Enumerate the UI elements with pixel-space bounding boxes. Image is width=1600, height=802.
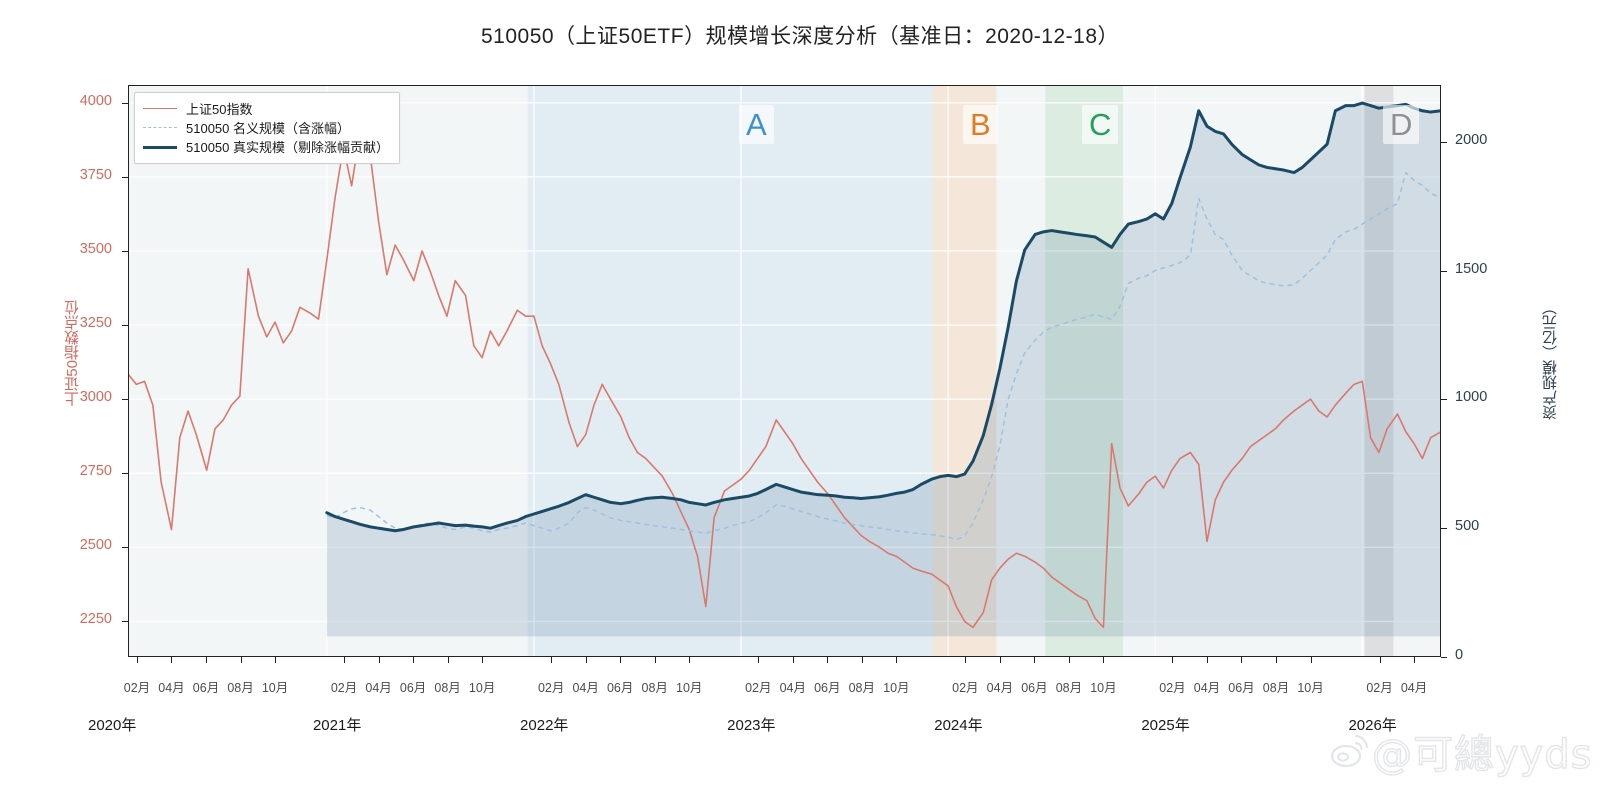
x-axis-tickmark [171,657,172,663]
x-axis-tickmark [827,657,828,663]
x-axis-month-tick: 02月 [1366,677,1392,696]
x-axis-year-label: 2020年 [88,714,136,735]
x-axis-month-tick: 04月 [572,677,598,696]
x-axis-month-tick: 06月 [193,677,219,696]
x-axis-month-tick: 10月 [1297,677,1323,696]
y-axis-right-label: 资产规模（亿元） [1540,300,1560,420]
phase-label-c: C [1082,105,1118,144]
x-axis-year-label: 2021年 [313,714,361,735]
x-axis-tickmark [758,657,759,663]
x-axis-month-tick: 04月 [158,677,184,696]
x-axis-month-tick: 08月 [1263,677,1289,696]
chart-svg [128,85,1441,657]
legend-swatch-icon [143,141,177,153]
x-axis-tickmark [620,657,621,663]
x-axis-month-tick: 08月 [849,677,875,696]
x-axis-tickmark [1380,657,1381,663]
y-axis-left-tickmark [122,399,128,400]
x-axis-month-tick: 06月 [607,677,633,696]
y-axis-left-tick: 3750 [42,167,112,183]
x-axis-tickmark [896,657,897,663]
x-axis-month-tick: 04月 [987,677,1013,696]
x-axis-month-tick: 08月 [642,677,668,696]
x-axis-year-label: 2023年 [727,714,775,735]
x-axis-month-tick: 08月 [434,677,460,696]
y-axis-left-tickmark [122,473,128,474]
x-axis-tickmark [275,657,276,663]
legend-item-real-scale[interactable]: 510050 真实规模（剔除涨幅贡献） [143,137,389,156]
y-axis-left-tickmark [122,325,128,326]
y-axis-right-tickmark [1441,271,1447,272]
phase-label-d: D [1383,105,1419,144]
phase-label-a: A [739,105,774,144]
y-axis-left-tickmark [122,621,128,622]
legend-swatch-icon [143,122,177,134]
y-axis-left-tick: 3500 [42,241,112,257]
x-axis-month-tick: 06月 [400,677,426,696]
x-axis-month-tick: 02月 [124,677,150,696]
x-axis-tickmark [379,657,380,663]
x-axis-tickmark [448,657,449,663]
legend-item-nominal-scale[interactable]: 510050 名义规模（含涨幅） [143,118,389,137]
x-axis-tickmark [551,657,552,663]
x-axis-tickmark [1172,657,1173,663]
x-axis-month-tick: 02月 [952,677,978,696]
x-axis-month-tick: 02月 [745,677,771,696]
x-axis-month-tick: 10月 [883,677,909,696]
x-axis-year-label: 2025年 [1141,714,1189,735]
y-axis-right-tickmark [1441,657,1447,658]
x-axis-month-tick: 06月 [814,677,840,696]
y-axis-left-tick: 3250 [42,315,112,331]
x-axis-year-label: 2026年 [1348,714,1396,735]
legend-label: 上证50指数 [186,99,252,118]
y-axis-left-tickmark [122,177,128,178]
x-axis-tickmark [241,657,242,663]
y-axis-right-tick: 1500 [1455,261,1525,277]
x-axis-month-tick: 10月 [469,677,495,696]
x-axis-tickmark [965,657,966,663]
x-axis-tickmark [689,657,690,663]
x-axis-tickmark [137,657,138,663]
x-axis-tickmark [655,657,656,663]
watermark-text: @可總yyds [1372,722,1593,780]
x-axis-month-tick: 10月 [676,677,702,696]
x-axis-month-tick: 02月 [331,677,357,696]
x-axis-month-tick: 02月 [538,677,564,696]
y-axis-left-tick: 4000 [42,93,112,109]
x-axis-month-tick: 04月 [1401,677,1427,696]
y-axis-right-tick: 0 [1455,647,1525,663]
y-axis-right-tickmark [1441,399,1447,400]
x-axis-tickmark [482,657,483,663]
chart-legend: 上证50指数510050 名义规模（含涨幅）510050 真实规模（剔除涨幅贡献… [134,92,400,164]
phase-label-b: B [963,105,998,144]
x-axis-month-tick: 02月 [1159,677,1185,696]
y-axis-left-tickmark [122,251,128,252]
x-axis-tickmark [1311,657,1312,663]
y-axis-right-tickmark [1441,142,1447,143]
x-axis-year-label: 2024年 [934,714,982,735]
x-axis-month-tick: 08月 [1056,677,1082,696]
x-axis-tickmark [1241,657,1242,663]
x-axis-month-tick: 06月 [1021,677,1047,696]
y-axis-right-tick: 1000 [1455,389,1525,405]
x-axis-tickmark [1069,657,1070,663]
x-axis-month-tick: 06月 [1228,677,1254,696]
x-axis-tickmark [1276,657,1277,663]
x-axis-month-tick: 04月 [365,677,391,696]
x-axis-tickmark [586,657,587,663]
chart-page: 510050（上证50ETF）规模增长深度分析（基准日：2020-12-18） … [0,0,1600,802]
y-axis-right-tick: 2000 [1455,132,1525,148]
y-axis-left-tick: 2250 [42,611,112,627]
x-axis-tickmark [344,657,345,663]
x-axis-month-tick: 10月 [262,677,288,696]
x-axis-tickmark [206,657,207,663]
legend-label: 510050 名义规模（含涨幅） [186,118,350,137]
x-axis-month-tick: 10月 [1090,677,1116,696]
x-axis-tickmark [413,657,414,663]
y-axis-left-tickmark [122,547,128,548]
x-axis-tickmark [1103,657,1104,663]
x-axis-tickmark [793,657,794,663]
legend-label: 510050 真实规模（剔除涨幅贡献） [186,137,389,156]
x-axis-tickmark [862,657,863,663]
page-title: 510050（上证50ETF）规模增长深度分析（基准日：2020-12-18） [0,20,1600,50]
y-axis-left-tickmark [122,103,128,104]
x-axis-tickmark [1414,657,1415,663]
y-axis-right-tickmark [1441,528,1447,529]
weibo-logo-icon [1330,732,1370,770]
legend-item-sse50-index[interactable]: 上证50指数 [143,99,389,118]
x-axis-tickmark [1000,657,1001,663]
y-axis-right-tick: 500 [1455,518,1525,534]
x-axis-month-tick: 04月 [780,677,806,696]
y-axis-left-tick: 3000 [42,389,112,405]
legend-swatch-icon [143,103,177,115]
y-axis-left-tick: 2500 [42,537,112,553]
x-axis-tickmark [1034,657,1035,663]
x-axis-tickmark [1207,657,1208,663]
x-axis-year-label: 2022年 [520,714,568,735]
y-axis-left-tick: 2750 [42,463,112,479]
plot-area [128,85,1441,657]
x-axis-month-tick: 08月 [227,677,253,696]
x-axis-month-tick: 04月 [1194,677,1220,696]
